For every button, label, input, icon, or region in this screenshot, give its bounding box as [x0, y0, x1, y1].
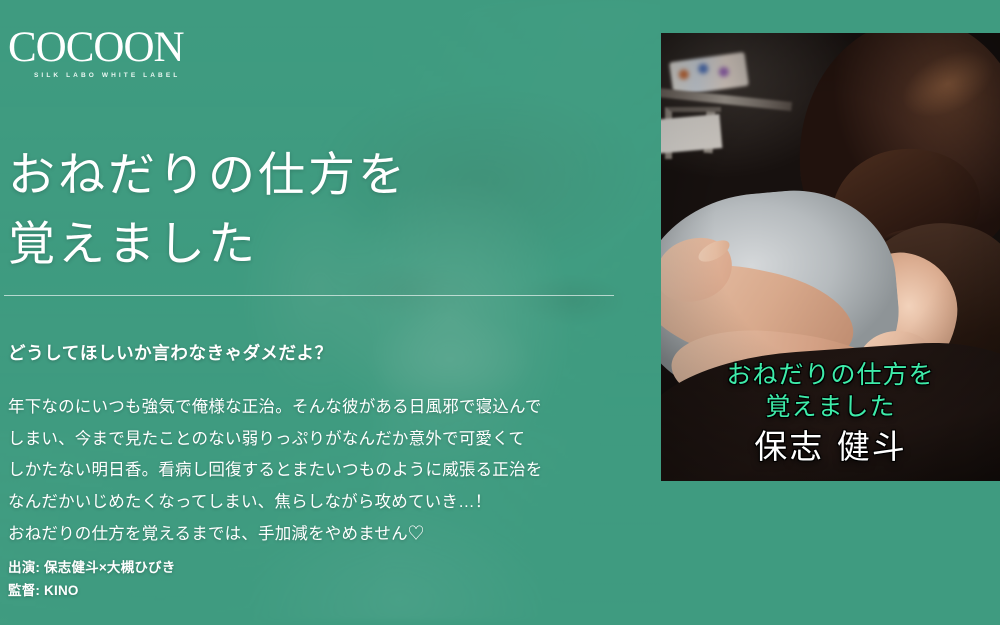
cover-overlay-text: おねだりの仕方を 覚えました 保志 健斗 [661, 359, 1000, 465]
hero-description: 年下なのにいつも強気で俺様な正治。そんな彼がある日風邪で寝込んで しまい、今まで… [8, 392, 638, 550]
hero-tagline: どうしてほしいか言わなきゃダメだよ？ [8, 340, 333, 365]
credit-director: 監督: KINO [8, 579, 175, 602]
page-root: COCOON SILK LABO WHITE LABEL おねだりの仕方を 覚え… [0, 0, 1000, 625]
title-divider [4, 295, 614, 296]
cover-overlay-title: おねだりの仕方を 覚えました [671, 359, 990, 423]
brand-logo[interactable]: COCOON SILK LABO WHITE LABEL [8, 26, 308, 79]
cover-overlay-performer-name: 保志 健斗 [671, 429, 990, 465]
logo-tagline: SILK LABO WHITE LABEL [34, 72, 308, 79]
credit-cast: 出演: 保志健斗×大槻ひびき [8, 556, 175, 579]
page-title: おねだりの仕方を 覚えました [8, 142, 408, 279]
cover-photo-panel[interactable]: おねだりの仕方を 覚えました 保志 健斗 [661, 33, 1000, 481]
credits-block: 出演: 保志健斗×大槻ひびき 監督: KINO [8, 556, 175, 602]
logo-wordmark: COCOON [8, 26, 308, 69]
